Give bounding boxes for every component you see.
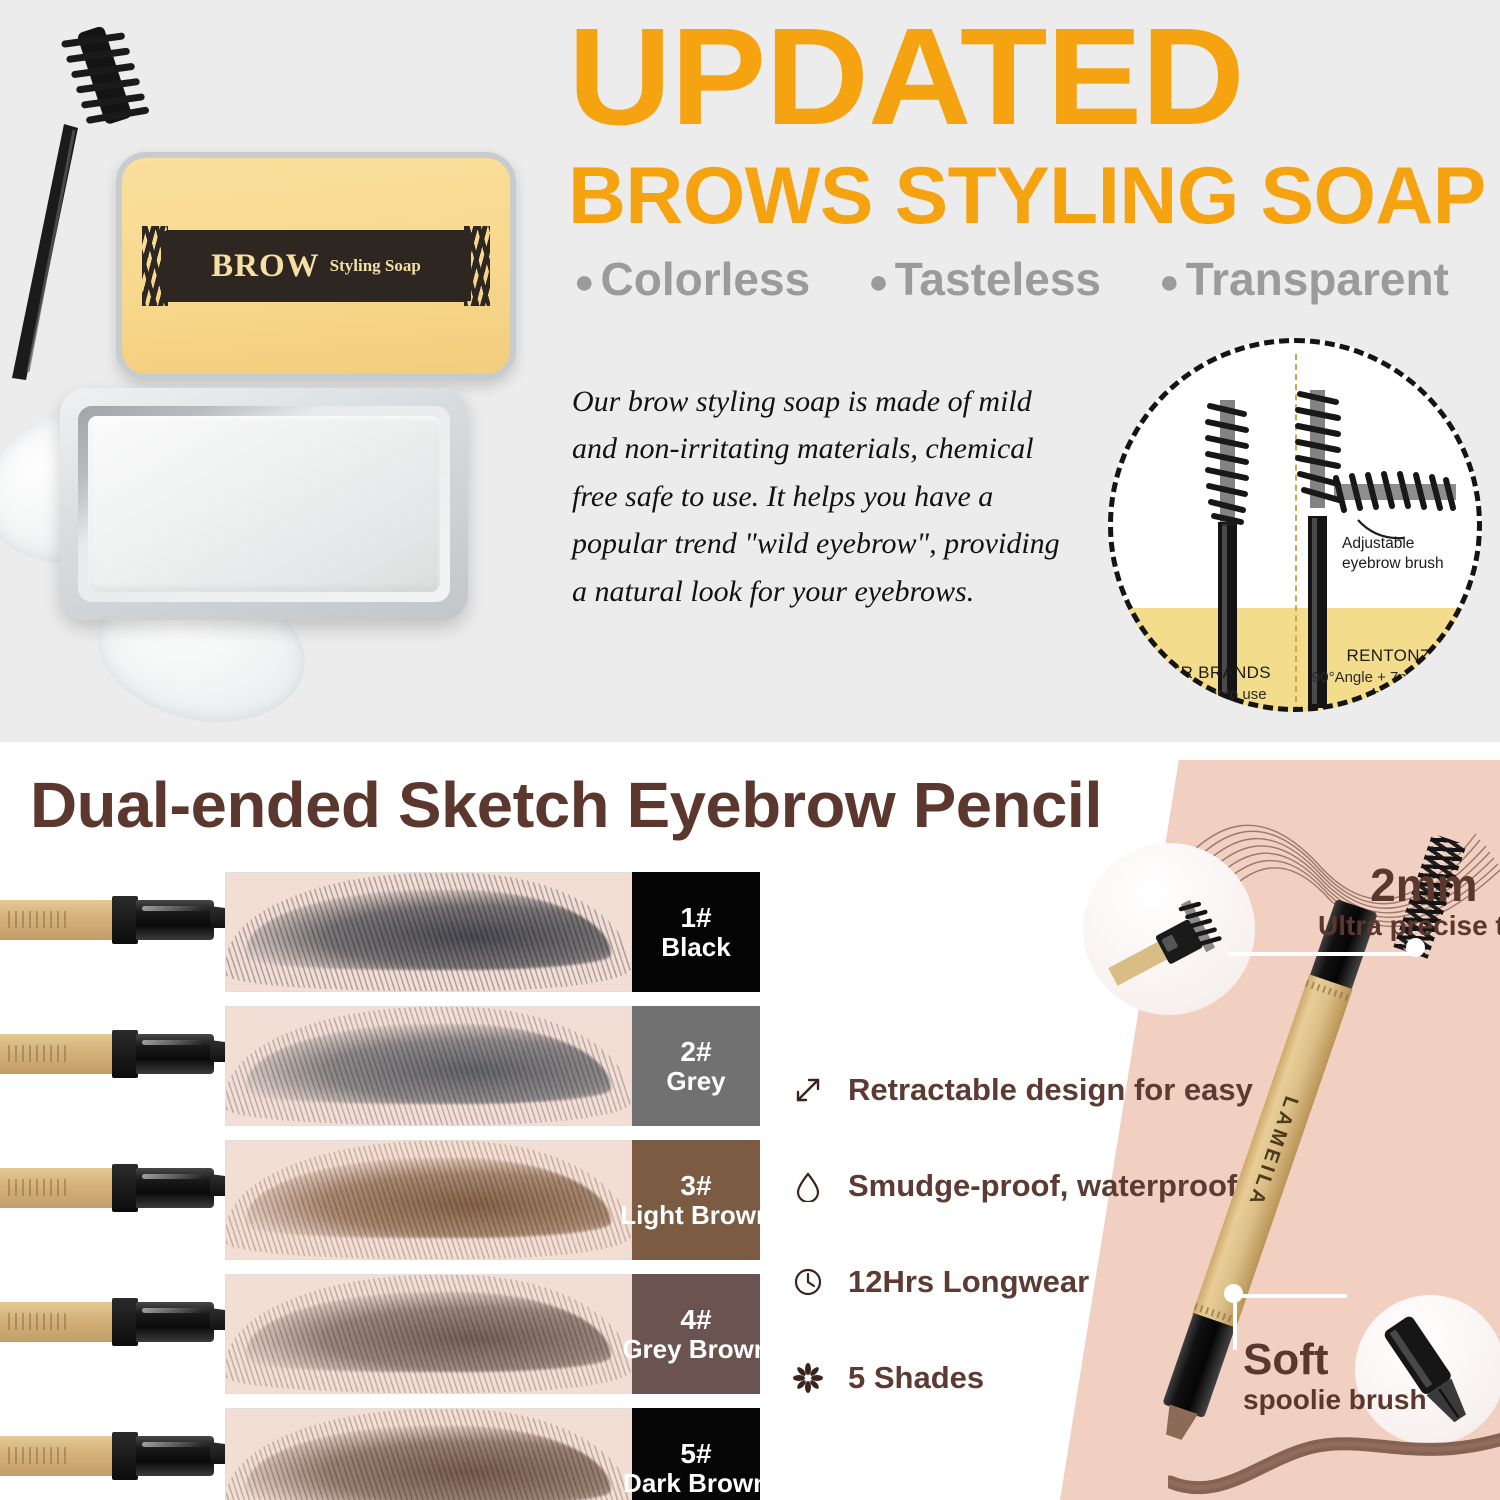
headline-block: UPDATED BROWS STYLING SOAP ●Colorless ●T… bbox=[568, 14, 1418, 306]
bullet-transparent: ●Transparent bbox=[1159, 252, 1449, 306]
pencil-thumbnail bbox=[0, 1408, 225, 1500]
bullet-label: Transparent bbox=[1186, 253, 1449, 305]
shade-name: Grey bbox=[666, 1067, 725, 1095]
flower-icon bbox=[790, 1360, 826, 1396]
pencil-thumbnail bbox=[0, 1140, 225, 1260]
pencil-section-title: Dual-ended Sketch Eyebrow Pencil bbox=[30, 768, 1102, 842]
rentonz-label: RENTONZ bbox=[1295, 646, 1482, 666]
bullet-dot-icon: ● bbox=[574, 263, 595, 301]
shade-list: 1# Black 2# Grey bbox=[0, 872, 760, 1500]
shade-number: 1# bbox=[680, 903, 711, 933]
soft-callout-value: Soft bbox=[1243, 1338, 1427, 1382]
brow-swatch-image bbox=[225, 1140, 632, 1260]
tin-subbrand-text: Styling Soap bbox=[330, 256, 421, 276]
rentonz-desc: 90°Angle + 7mm brush head bbox=[1295, 669, 1482, 704]
tin-brand-band: BROW Styling Soap bbox=[166, 230, 466, 302]
soap-bar bbox=[88, 416, 440, 592]
shade-number: 3# bbox=[680, 1171, 711, 1201]
headline-bullets: ●Colorless ●Tasteless ●Transparent bbox=[574, 252, 1418, 306]
feature-label: 5 Shades bbox=[848, 1360, 984, 1396]
tip-callout-line bbox=[1228, 952, 1414, 956]
feature-retractable: Retractable design for easy bbox=[790, 1042, 1270, 1138]
other-brands-label: OTHER BRANDS bbox=[1108, 663, 1295, 683]
shade-row: 5# Dark Brown bbox=[0, 1408, 760, 1500]
headline-updated: UPDATED bbox=[568, 14, 1452, 141]
shade-label-chip: 1# Black bbox=[632, 872, 760, 992]
product-description: Our brow styling soap is made of mild an… bbox=[572, 378, 1082, 615]
shade-row: 1# Black bbox=[0, 872, 760, 992]
headline-subtitle: BROWS STYLING SOAP bbox=[568, 155, 1410, 238]
feature-label: Smudge-proof, waterproof bbox=[848, 1168, 1237, 1204]
soft-callout: Soft spoolie brush bbox=[1243, 1338, 1427, 1416]
bullet-tasteless: ●Tasteless bbox=[868, 252, 1101, 306]
shade-number: 5# bbox=[680, 1439, 711, 1469]
open-soap-tin bbox=[60, 388, 468, 620]
other-brands-desc: Inconvenient to use bbox=[1108, 686, 1295, 704]
tip-inset-circle bbox=[1083, 843, 1255, 1015]
tin-brand-text: BROW bbox=[211, 248, 320, 285]
brow-swatch-image bbox=[225, 1274, 632, 1394]
bullet-label: Tasteless bbox=[895, 253, 1101, 305]
shade-name: Light Brown bbox=[620, 1201, 772, 1229]
shade-label-chip: 5# Dark Brown bbox=[632, 1408, 760, 1500]
shade-row: 2# Grey bbox=[0, 1006, 760, 1126]
feature-label: 12Hrs Longwear bbox=[848, 1264, 1089, 1300]
soft-callout-dot bbox=[1224, 1284, 1243, 1303]
soap-tin-lid: BROW Styling Soap bbox=[116, 152, 516, 380]
bullet-colorless: ●Colorless bbox=[574, 252, 810, 306]
feature-label: Retractable design for easy bbox=[848, 1072, 1253, 1108]
soap-section: BROW Styling Soap UPDATED BROWS STYLING … bbox=[0, 0, 1500, 742]
bullet-dot-icon: ● bbox=[1159, 263, 1180, 301]
tip-callout-label: Ultra precise tip bbox=[1318, 910, 1500, 942]
shade-row: 4# Grey Brown bbox=[0, 1274, 760, 1394]
brow-swatch-image bbox=[225, 1408, 632, 1500]
infographic-page: BROW Styling Soap UPDATED BROWS STYLING … bbox=[0, 0, 1500, 1500]
pencil-thumbnail bbox=[0, 1274, 225, 1394]
comparison-left-column: OTHER BRANDS Inconvenient to use bbox=[1108, 663, 1295, 704]
shade-name: Black bbox=[661, 933, 730, 961]
shade-name: Dark Brown bbox=[623, 1469, 769, 1497]
brow-stroke-swatch bbox=[1168, 1420, 1500, 1500]
shade-label-chip: 2# Grey bbox=[632, 1006, 760, 1126]
shade-row: 3# Light Brown bbox=[0, 1140, 760, 1260]
tip-callout-value: 2mm bbox=[1318, 862, 1500, 908]
tip-callout: 2mm Ultra precise tip bbox=[1318, 862, 1500, 942]
adjustable-brush-annotation: Adjustable eyebrow brush bbox=[1342, 534, 1474, 574]
pencil-thumbnail bbox=[0, 1006, 225, 1126]
brow-swatch-image bbox=[225, 872, 632, 992]
soft-callout-label: spoolie brush bbox=[1243, 1384, 1427, 1416]
retract-arrows-icon bbox=[790, 1072, 826, 1108]
shade-number: 4# bbox=[680, 1305, 711, 1335]
brow-swatch-image bbox=[225, 1006, 632, 1126]
pencil-thumbnail bbox=[0, 872, 225, 992]
shade-name: Grey Brown bbox=[622, 1335, 769, 1363]
tin-inner-rim bbox=[78, 406, 450, 602]
water-drop-icon bbox=[790, 1168, 826, 1204]
shade-number: 2# bbox=[680, 1037, 711, 1067]
feature-waterproof: Smudge-proof, waterproof bbox=[790, 1138, 1270, 1234]
clock-icon bbox=[790, 1264, 826, 1300]
comparison-right-column: RENTONZ 90°Angle + 7mm brush head bbox=[1295, 646, 1482, 704]
brush-comparison-circle: Adjustable eyebrow brush OTHER BRANDS In… bbox=[1108, 338, 1482, 712]
bullet-label: Colorless bbox=[601, 253, 811, 305]
shade-label-chip: 3# Light Brown bbox=[632, 1140, 760, 1260]
shade-label-chip: 4# Grey Brown bbox=[632, 1274, 760, 1394]
bullet-dot-icon: ● bbox=[868, 263, 889, 301]
